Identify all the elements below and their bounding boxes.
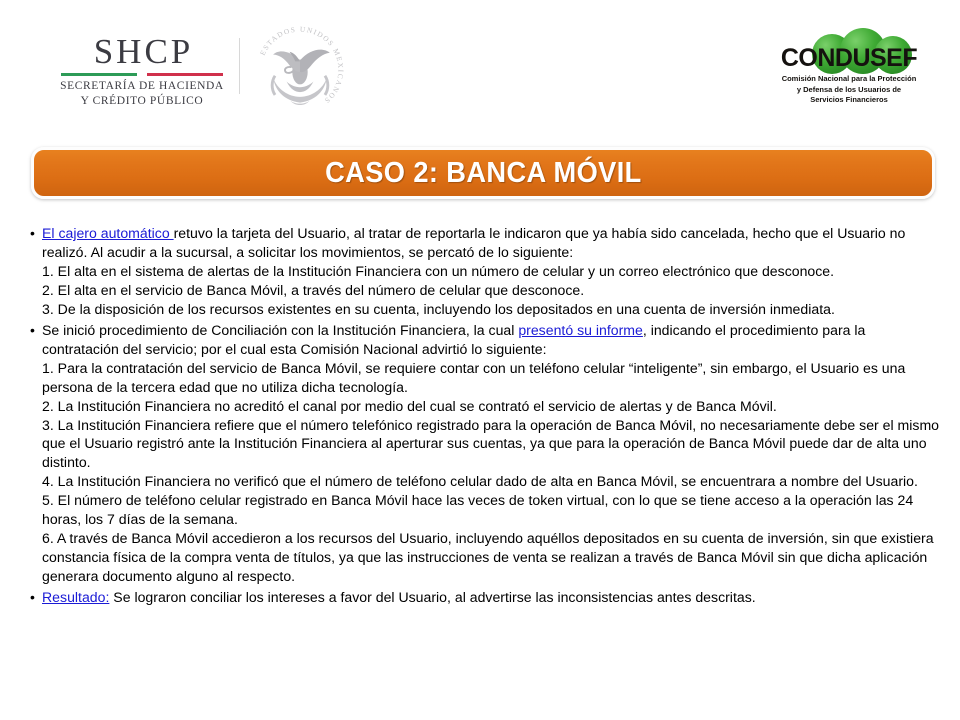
shcp-logo: SHCP SECRETARÍA DE HACIENDA Y CRÉDITO PÚ… (58, 34, 226, 109)
numbered-item: 3. De la disposición de los recursos exi… (42, 300, 942, 319)
condusef-tagline-line-2: y Defensa de los Usuarios de (768, 85, 930, 96)
paragraph: El cajero automático retuvo la tarjeta d… (42, 224, 942, 262)
numbered-item: 1. El alta en el sistema de alertas de l… (42, 262, 942, 281)
numbered-item: 1. Para la contratación del servicio de … (42, 359, 942, 397)
paragraph: Se inició procedimiento de Conciliación … (42, 321, 942, 359)
slide-body: • El cajero automático retuvo la tarjeta… (24, 224, 942, 609)
numbered-item: 5. El número de teléfono celular registr… (42, 491, 942, 529)
rule-gap (137, 73, 147, 76)
slide-title-banner: CASO 2: BANCA MÓVIL (31, 147, 935, 199)
rule-red-bar (147, 73, 223, 76)
shcp-subtitle-line-2: Y CRÉDITO PÚBLICO (58, 94, 226, 109)
condusef-logo: CONDUSEF Comisión Nacional para la Prote… (768, 28, 930, 106)
paragraph-text-before-link: Se inició procedimiento de Conciliación … (42, 322, 518, 338)
shcp-subtitle-line-1: SECRETARÍA DE HACIENDA (58, 79, 226, 94)
numbered-item: 2. La Institución Financiera no acreditó… (42, 397, 942, 416)
numbered-item: 3. La Institución Financiera refiere que… (42, 416, 942, 473)
condusef-tagline-line-1: Comisión Nacional para la Protección (768, 74, 930, 85)
numbered-item: 6. A través de Banca Móvil accedieron a … (42, 529, 942, 586)
link-cajero-automatico[interactable]: El cajero automático (42, 225, 174, 241)
list-item: • Se inició procedimiento de Conciliació… (24, 321, 942, 586)
bullet-glyph: • (30, 321, 35, 340)
header-divider (239, 38, 240, 94)
list-item: • Resultado: Se lograron conciliar los i… (24, 588, 942, 607)
shcp-wordmark: SHCP (58, 34, 226, 69)
numbered-item: 4. La Institución Financiera no verificó… (42, 472, 942, 491)
link-resultado[interactable]: Resultado: (42, 589, 109, 605)
list-item: • El cajero automático retuvo la tarjeta… (24, 224, 942, 319)
rule-green-bar (61, 73, 137, 76)
bullet-glyph: • (30, 224, 35, 243)
slide-header: SHCP SECRETARÍA DE HACIENDA Y CRÉDITO PÚ… (0, 0, 960, 128)
page-title: CASO 2: BANCA MÓVIL (325, 157, 642, 190)
paragraph-text: Se lograron conciliar los intereses a fa… (109, 589, 755, 605)
condusef-wordmark: CONDUSEF (768, 44, 930, 73)
condusef-tagline-line-3: Servicios Financieros (768, 95, 930, 106)
paragraph: Resultado: Se lograron conciliar los int… (42, 588, 942, 607)
mexican-coat-of-arms-seal-icon: ESTADOS UNIDOS MEXICANOS (252, 22, 348, 118)
link-presento-su-informe[interactable]: presentó su informe (518, 322, 643, 338)
shcp-subtitle: SECRETARÍA DE HACIENDA Y CRÉDITO PÚBLICO (58, 79, 226, 109)
bullet-glyph: • (30, 588, 35, 607)
shcp-tricolor-rule (61, 73, 223, 76)
numbered-item: 2. El alta en el servicio de Banca Móvil… (42, 281, 942, 300)
condusef-tagline: Comisión Nacional para la Protección y D… (768, 74, 930, 106)
